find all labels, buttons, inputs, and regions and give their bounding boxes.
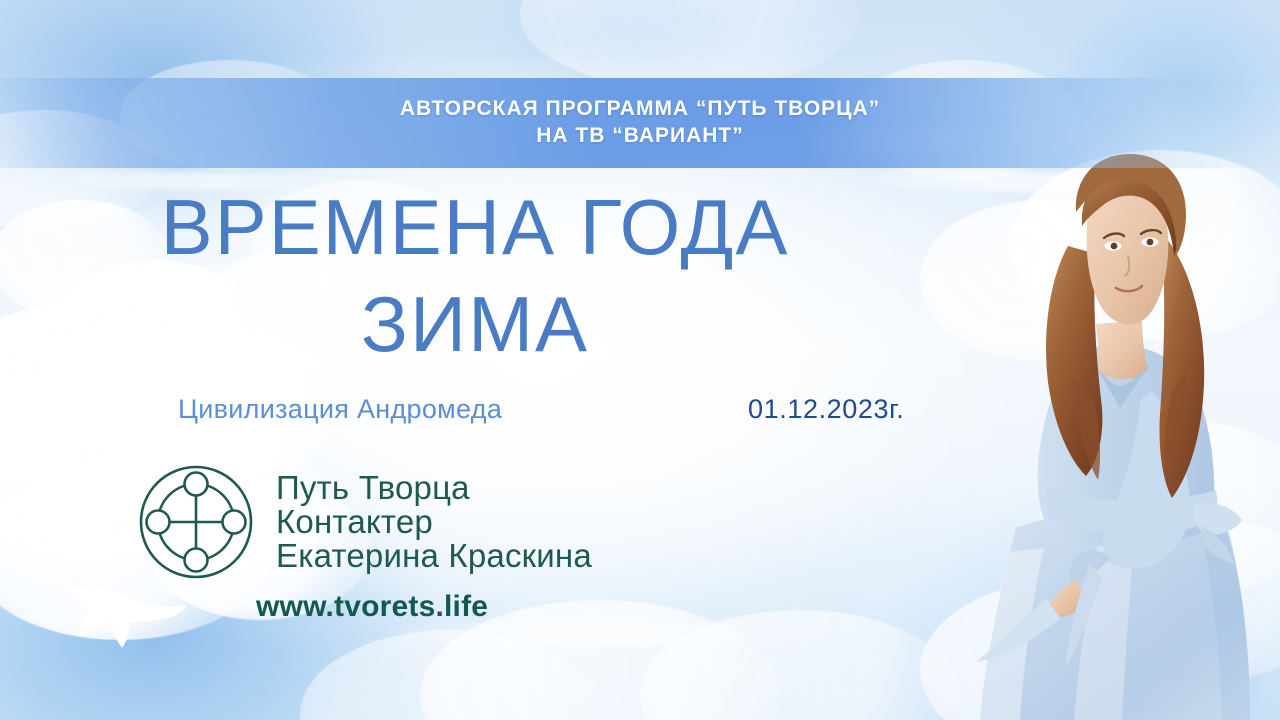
logo-line-3: Екатерина Краскина bbox=[276, 539, 592, 573]
title-block: ВРЕМЕНА ГОДА ЗИМА bbox=[0, 186, 950, 368]
logo-line-2: Контактер bbox=[276, 505, 592, 539]
presenter-photo bbox=[950, 128, 1280, 720]
banner-line-1: АВТОРСКАЯ ПРОГРАММА “ПУТЬ ТВОРЦА” bbox=[400, 97, 880, 122]
slide-canvas: АВТОРСКАЯ ПРОГРАММА “ПУТЬ ТВОРЦА” НА ТВ … bbox=[0, 0, 1280, 720]
page-title: ВРЕМЕНА ГОДА bbox=[0, 186, 950, 269]
website-url[interactable]: www.tvorets.life bbox=[256, 590, 488, 624]
banner-line-2: НА ТВ “ВАРИАНТ” bbox=[536, 124, 744, 149]
civilization-label: Цивилизация Андромеда bbox=[178, 394, 502, 425]
circle-cross-emblem-icon bbox=[132, 458, 260, 586]
brand-logo: Путь Творца Контактер Екатерина Краскина bbox=[132, 458, 592, 586]
date-label: 01.12.2023г. bbox=[748, 394, 904, 425]
program-banner: АВТОРСКАЯ ПРОГРАММА “ПУТЬ ТВОРЦА” НА ТВ … bbox=[0, 78, 1280, 168]
logo-line-1: Путь Творца bbox=[276, 471, 592, 505]
page-subtitle: ЗИМА bbox=[0, 281, 950, 368]
